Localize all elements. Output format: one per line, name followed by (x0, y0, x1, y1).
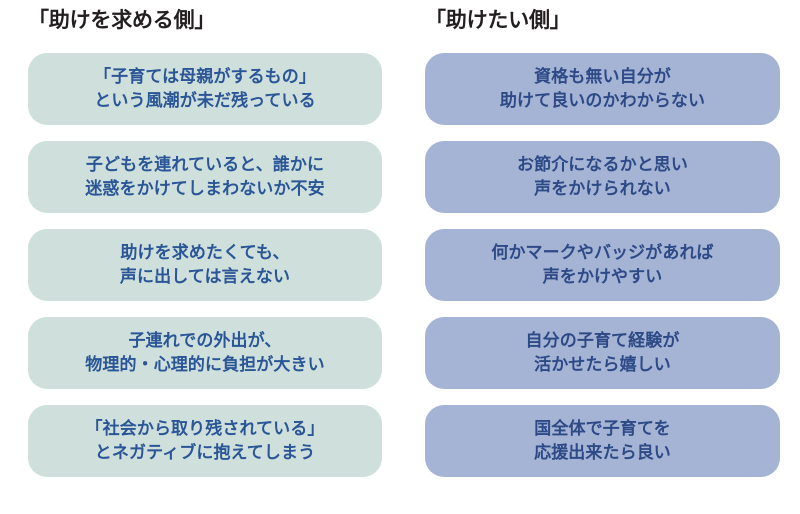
card-line-2: 助けて良いのかわからない (500, 89, 705, 113)
card-item: 助けを求めたくても、 声に出しては言えない (28, 229, 382, 301)
card-item: 子どもを連れていると、誰かに 迷惑をかけてしまわないか不安 (28, 141, 382, 213)
card-line-1: 資格も無い自分が (534, 65, 671, 89)
card-item: 国全体で子育てを 応援出来たら良い (425, 405, 780, 477)
two-column-comparison-board: 「助けを求める側」 「子育ては母親がするもの」 という風潮が未だ残っている 子ど… (0, 0, 800, 514)
column-title-helpers: 「助けたい側」 (425, 8, 780, 42)
card-stack-helpers: 資格も無い自分が 助けて良いのかわからない お節介になるかと思い 声をかけられな… (425, 53, 780, 477)
card-line-1: お節介になるかと思い (517, 153, 688, 177)
card-item: 「社会から取り残されている」 とネガティブに抱えてしまう (28, 405, 382, 477)
card-item: 何かマークやバッジがあれば 声をかけやすい (425, 229, 780, 301)
card-item: 資格も無い自分が 助けて良いのかわからない (425, 53, 780, 125)
card-line-2: 声に出しては言えない (120, 265, 290, 289)
card-line-1: 子どもを連れていると、誰かに (86, 153, 324, 177)
column-helpers: 「助けたい側」 資格も無い自分が 助けて良いのかわからない お節介になるかと思い… (425, 0, 780, 514)
card-line-2: 声をかけられない (534, 177, 671, 201)
card-line-2: 声をかけやすい (543, 265, 663, 289)
card-item: 「子育ては母親がするもの」 という風潮が未だ残っている (28, 53, 382, 125)
card-line-1: 「社会から取り残されている」 (86, 417, 325, 441)
column-title-help-seekers: 「助けを求める側」 (28, 8, 382, 42)
card-line-1: 何かマークやバッジがあれば (491, 241, 713, 265)
card-line-2: 迷惑をかけてしまわないか不安 (85, 177, 324, 201)
column-help-seekers: 「助けを求める側」 「子育ては母親がするもの」 という風潮が未だ残っている 子ど… (28, 0, 382, 514)
card-line-2: とネガティブに抱えてしまう (95, 441, 315, 465)
card-line-1: 国全体で子育てを (534, 417, 670, 441)
card-item: 自分の子育て経験が 活かせたら嬉しい (425, 317, 780, 389)
card-line-2: 物理的・心理的に負担が大きい (85, 353, 324, 377)
card-line-2: という風潮が未だ残っている (94, 89, 315, 113)
card-line-1: 「子育ては母親がするもの」 (94, 65, 316, 89)
card-line-2: 応援出来たら良い (534, 441, 671, 465)
card-line-1: 助けを求めたくても、 (120, 241, 289, 265)
card-line-2: 活かせたら嬉しい (534, 353, 671, 377)
card-item: お節介になるかと思い 声をかけられない (425, 141, 780, 213)
card-stack-help-seekers: 「子育ては母親がするもの」 という風潮が未だ残っている 子どもを連れていると、誰… (28, 53, 382, 477)
card-line-1: 自分の子育て経験が (526, 329, 680, 353)
card-item: 子連れでの外出が、 物理的・心理的に負担が大きい (28, 317, 382, 389)
card-line-1: 子連れでの外出が、 (128, 329, 281, 353)
